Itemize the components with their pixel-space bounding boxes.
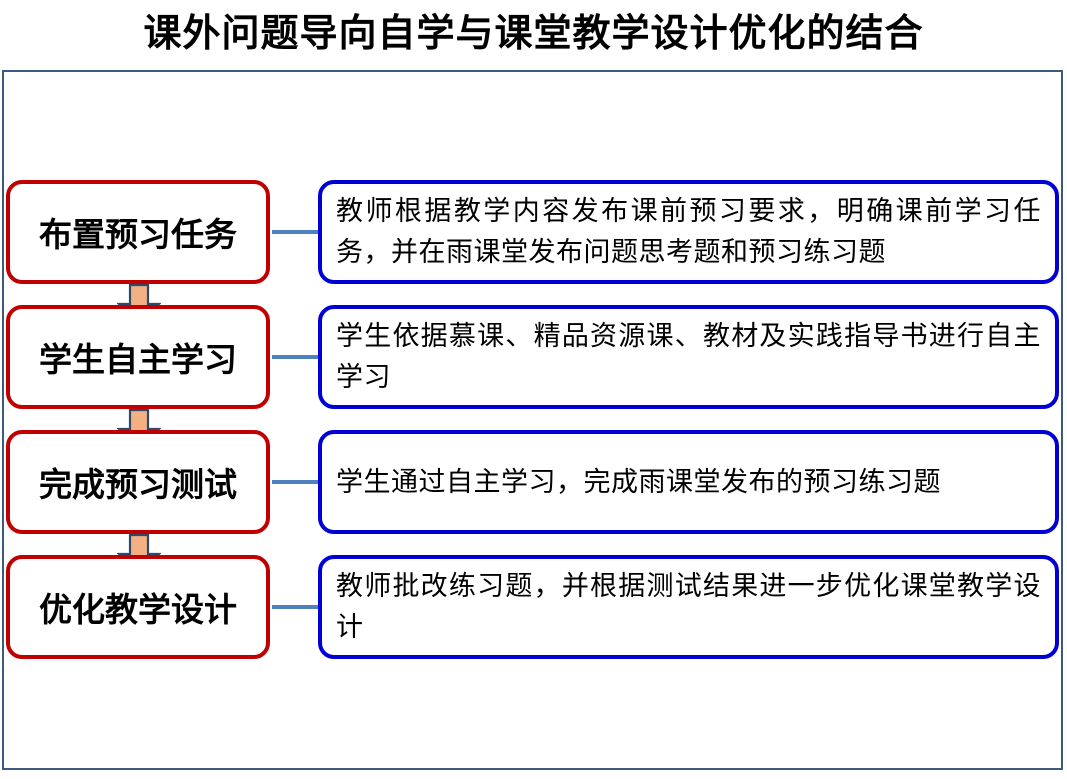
detail-box-4[interactable]: 教师批改练习题，并根据测试结果进一步优化课堂教学设计	[318, 555, 1059, 659]
detail-box-1[interactable]: 教师根据教学内容发布课前预习要求，明确课前学习任务，并在雨课堂发布问题思考题和预…	[318, 180, 1059, 284]
connector-line-4	[272, 605, 320, 609]
stage-label: 学生自主学习	[39, 333, 237, 381]
flow-row: 学生自主学习 学生依据慕课、精品资源课、教材及实践指导书进行自主学习	[4, 305, 1061, 409]
flow-row: 完成预习测试 学生通过自主学习，完成雨课堂发布的预习练习题	[4, 430, 1061, 534]
stage-label: 完成预习测试	[39, 458, 237, 506]
flow-row: 优化教学设计 教师批改练习题，并根据测试结果进一步优化课堂教学设计	[4, 555, 1061, 659]
detail-box-3[interactable]: 学生通过自主学习，完成雨课堂发布的预习练习题	[318, 430, 1059, 534]
detail-text: 学生通过自主学习，完成雨课堂发布的预习练习题	[336, 462, 941, 503]
flow-row: 布置预习任务 教师根据教学内容发布课前预习要求，明确课前学习任务，并在雨课堂发布…	[4, 180, 1061, 284]
diagram-frame: 布置预习任务 教师根据教学内容发布课前预习要求，明确课前学习任务，并在雨课堂发布…	[2, 70, 1063, 770]
detail-text: 学生依据慕课、精品资源课、教材及实践指导书进行自主学习	[336, 316, 1041, 398]
stage-box-3[interactable]: 完成预习测试	[6, 430, 270, 534]
detail-text: 教师批改练习题，并根据测试结果进一步优化课堂教学设计	[336, 566, 1041, 648]
stage-box-2[interactable]: 学生自主学习	[6, 305, 270, 409]
connector-line-2	[272, 355, 320, 359]
stage-label: 优化教学设计	[39, 583, 237, 631]
stage-box-1[interactable]: 布置预习任务	[6, 180, 270, 284]
connector-line-1	[272, 230, 320, 234]
detail-text: 教师根据教学内容发布课前预习要求，明确课前学习任务，并在雨课堂发布问题思考题和预…	[336, 191, 1041, 273]
page-title: 课外问题导向自学与课堂教学设计优化的结合	[0, 0, 1067, 68]
detail-box-2[interactable]: 学生依据慕课、精品资源课、教材及实践指导书进行自主学习	[318, 305, 1059, 409]
stage-label: 布置预习任务	[39, 208, 237, 256]
stage-box-4[interactable]: 优化教学设计	[6, 555, 270, 659]
connector-line-3	[272, 480, 320, 484]
